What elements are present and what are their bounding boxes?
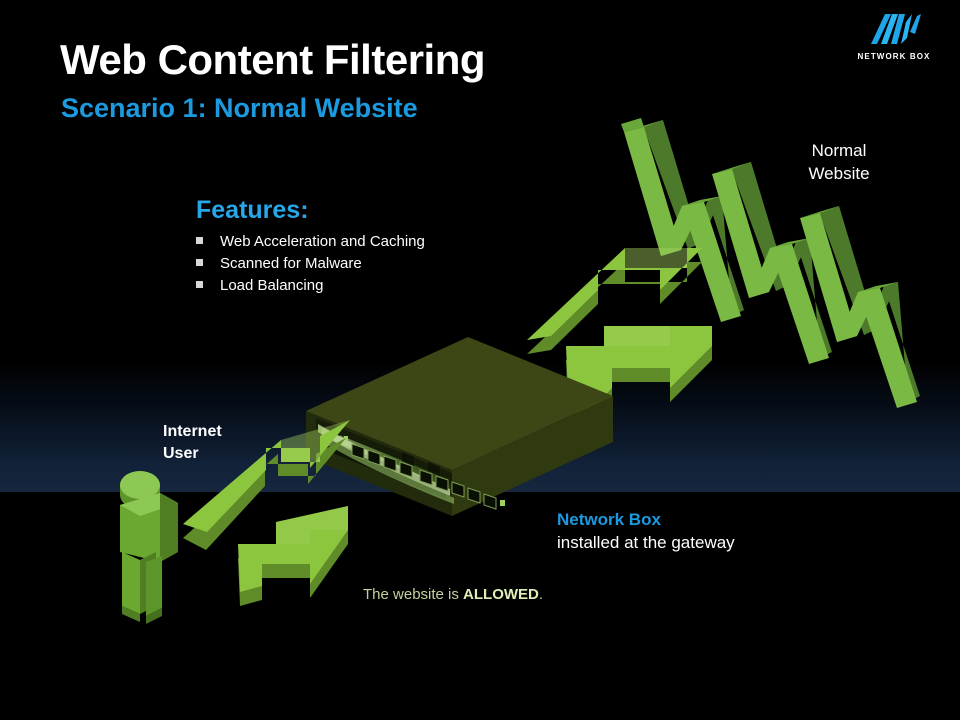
verdict-text: The website is ALLOWED. — [363, 586, 543, 603]
features-heading: Features: — [196, 196, 309, 225]
internet-user-line-1: Internet — [163, 421, 222, 443]
bullet-square-icon — [196, 237, 203, 244]
label-internet-user: Internet User — [163, 421, 222, 465]
feature-label: Load Balancing — [220, 275, 323, 297]
normal-website-line-1: Normal — [774, 139, 904, 162]
network-box-mark-icon — [865, 10, 923, 46]
label-normal-website: Normal Website — [774, 139, 904, 185]
feature-label: Scanned for Malware — [220, 253, 362, 275]
label-network-box: Network Box installed at the gateway — [557, 508, 735, 554]
internet-user-line-2: User — [163, 443, 222, 465]
brand-logo: NETWORK BOX — [846, 10, 942, 61]
list-item: Scanned for Malware — [196, 253, 526, 275]
bullet-square-icon — [196, 259, 203, 266]
page-title: Web Content Filtering — [60, 38, 485, 82]
page-subtitle: Scenario 1: Normal Website — [61, 93, 418, 124]
internet-user-figure — [120, 471, 178, 624]
arrow-box-to-user — [238, 506, 348, 606]
logo-wordmark: NETWORK BOX — [846, 52, 942, 61]
network-box-name: Network Box — [557, 508, 735, 531]
normal-website-line-2: Website — [774, 162, 904, 185]
network-box-sublabel: installed at the gateway — [557, 531, 735, 554]
bullet-square-icon — [196, 281, 203, 288]
list-item: Load Balancing — [196, 275, 526, 297]
www-letter-3 — [800, 206, 920, 408]
www-letter-1 — [621, 118, 744, 322]
verdict-prefix: The website is — [363, 586, 463, 603]
features-list: Web Acceleration and Caching Scanned for… — [196, 231, 526, 297]
status-badge: ALLOWED — [463, 586, 539, 603]
feature-label: Web Acceleration and Caching — [220, 231, 425, 253]
verdict-suffix: . — [539, 586, 543, 603]
list-item: Web Acceleration and Caching — [196, 231, 526, 253]
slide-canvas: Web Content Filtering Scenario 1: Normal… — [0, 0, 960, 720]
